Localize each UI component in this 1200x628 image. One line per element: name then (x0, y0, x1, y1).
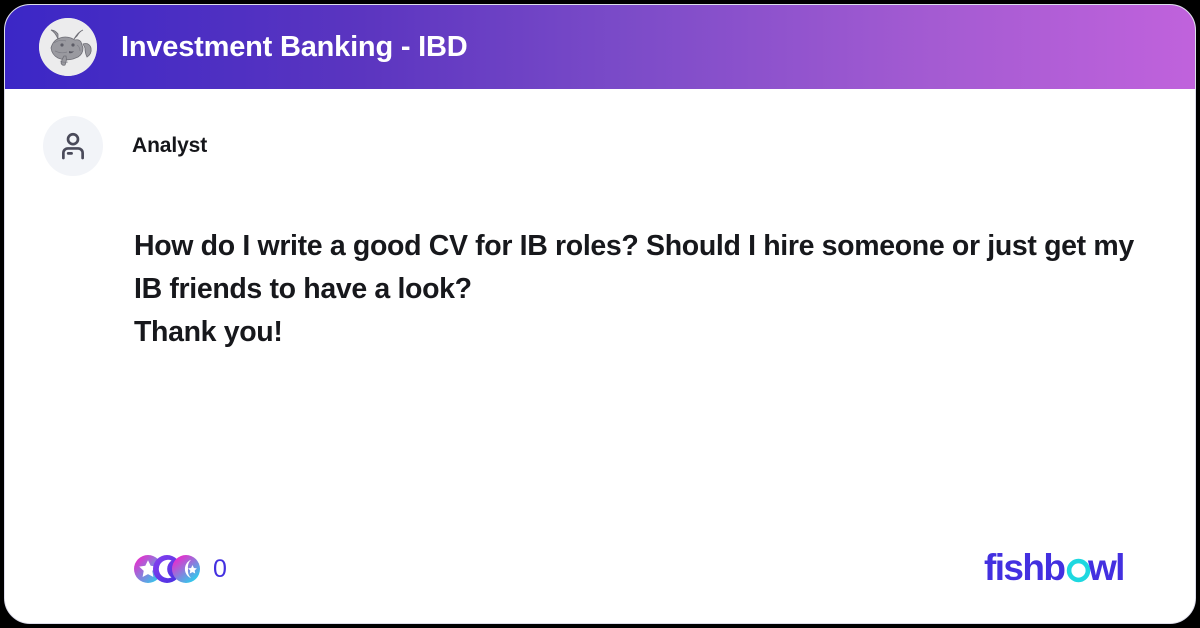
bowl-title: Investment Banking - IBD (121, 31, 467, 64)
fishbowl-logo: fishb wl (984, 548, 1135, 590)
bowl-header[interactable]: Investment Banking - IBD (5, 5, 1195, 89)
reactions-group[interactable]: 0 (134, 555, 227, 584)
reaction-badges[interactable] (134, 555, 200, 583)
post-author-row: Analyst (5, 89, 1195, 176)
fishbowl-post-card: Investment Banking - IBD Analyst How do … (4, 4, 1196, 624)
post-text: How do I write a good CV for IB roles? S… (134, 225, 1135, 354)
post-content: How do I write a good CV for IB roles? S… (5, 176, 1195, 354)
sparkle-reaction-icon[interactable] (172, 555, 200, 583)
post-author-name: Analyst (132, 134, 207, 158)
svg-text:wl: wl (1087, 548, 1124, 588)
svg-text:fishb: fishb (984, 548, 1065, 588)
post-footer: 0 fishb wl (5, 549, 1195, 589)
person-icon (43, 116, 103, 176)
reaction-count: 0 (213, 555, 227, 584)
post-body-area: Analyst How do I write a good CV for IB … (5, 89, 1195, 623)
bull-statue-icon (39, 18, 97, 76)
